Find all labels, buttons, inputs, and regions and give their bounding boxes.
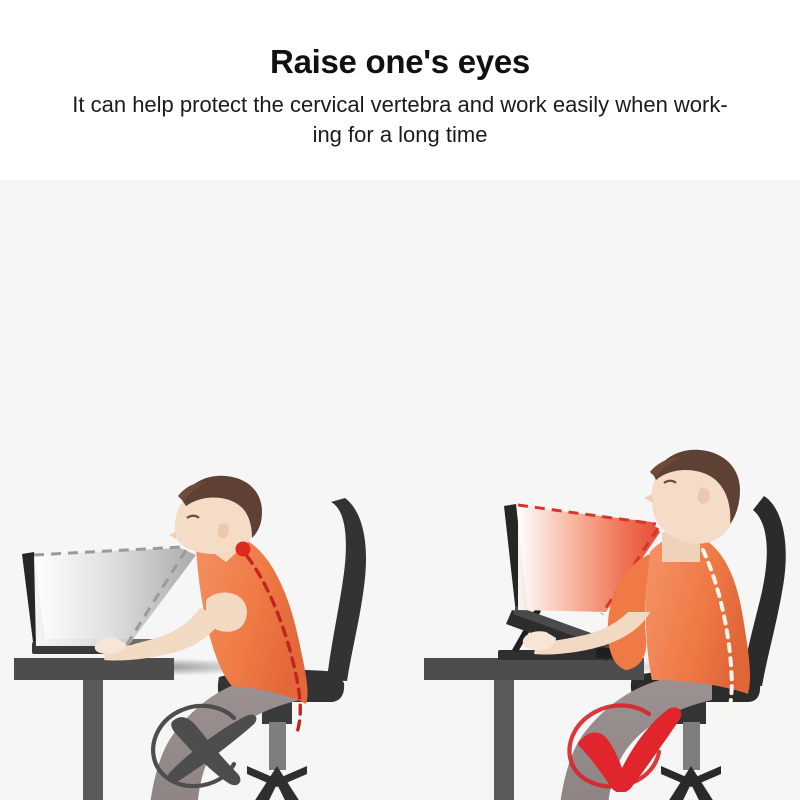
page-subtitle: It can help protect the cervical vertebr… [0, 80, 800, 149]
cross-icon [130, 696, 280, 792]
desk-column [83, 680, 103, 800]
desk-top [14, 658, 174, 680]
header: Raise one's eyes It can help protect the… [0, 0, 800, 180]
subtitle-line-1: It can help protect the cervical vertebr… [0, 90, 800, 120]
page-title: Raise one's eyes [0, 0, 800, 80]
subtitle-line-2: ing for a long time [0, 120, 800, 150]
verdict-correct [545, 696, 695, 792]
check-icon [545, 696, 695, 792]
upper-arm [206, 593, 247, 632]
pain-point-dot [236, 542, 251, 557]
desk-top-right [424, 658, 644, 680]
desk-column-right [494, 680, 514, 800]
product-infographic: Raise one's eyes It can help protect the… [0, 0, 800, 800]
check-mark-stroke [578, 707, 681, 792]
verdict-incorrect [130, 696, 280, 792]
